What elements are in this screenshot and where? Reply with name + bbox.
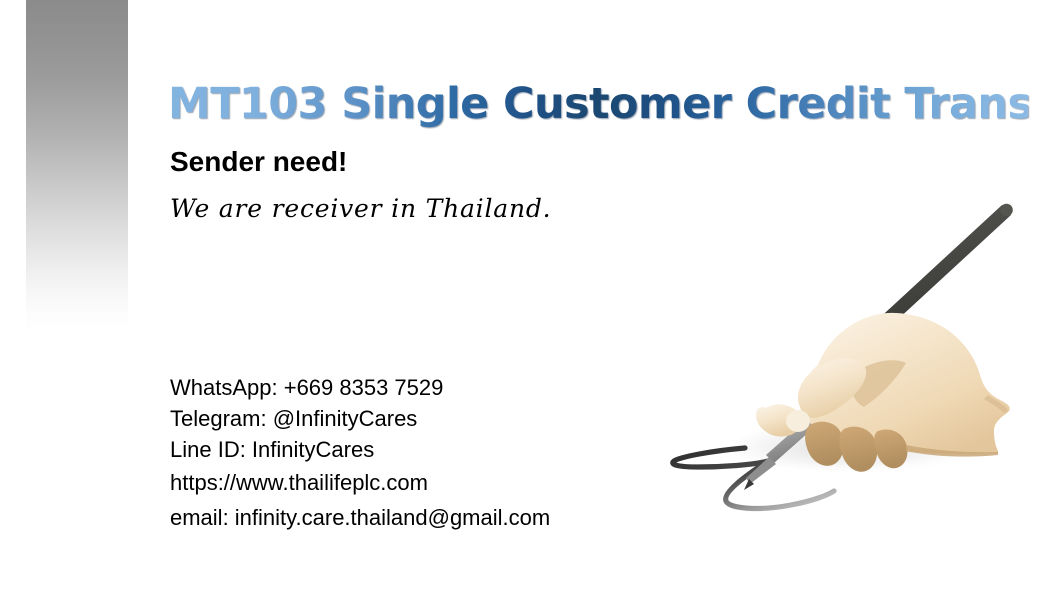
- script-subtitle-text: We are receiver in Thailand.: [170, 192, 551, 226]
- slide-canvas: MT103 Single Customer Credit Transfer Se…: [0, 0, 1063, 600]
- list-item-line-id[interactable]: Line ID: InfinityCares: [170, 434, 550, 465]
- page-title: MT103 Single Customer Credit Transfer: [168, 78, 1028, 130]
- pen-end-cap: [1000, 204, 1013, 217]
- left-gradient-bar: [26, 0, 128, 330]
- contact-info-list: WhatsApp: +669 8353 7529 Telegram: @Infi…: [170, 372, 550, 535]
- list-item-whatsapp[interactable]: WhatsApp: +669 8353 7529: [170, 372, 550, 403]
- headline-text: Sender need!: [170, 144, 347, 180]
- list-item-website[interactable]: https://www.thailifeplc.com: [170, 465, 550, 500]
- list-item-email[interactable]: email: infinity.care.thailand@gmail.com: [170, 500, 550, 535]
- list-item-telegram[interactable]: Telegram: @InfinityCares: [170, 403, 550, 434]
- hand-writing-with-pen-illustration: [650, 195, 1030, 525]
- thumb-knuckle-highlight: [786, 410, 810, 432]
- page-title-container: MT103 Single Customer Credit Transfer: [168, 78, 1028, 130]
